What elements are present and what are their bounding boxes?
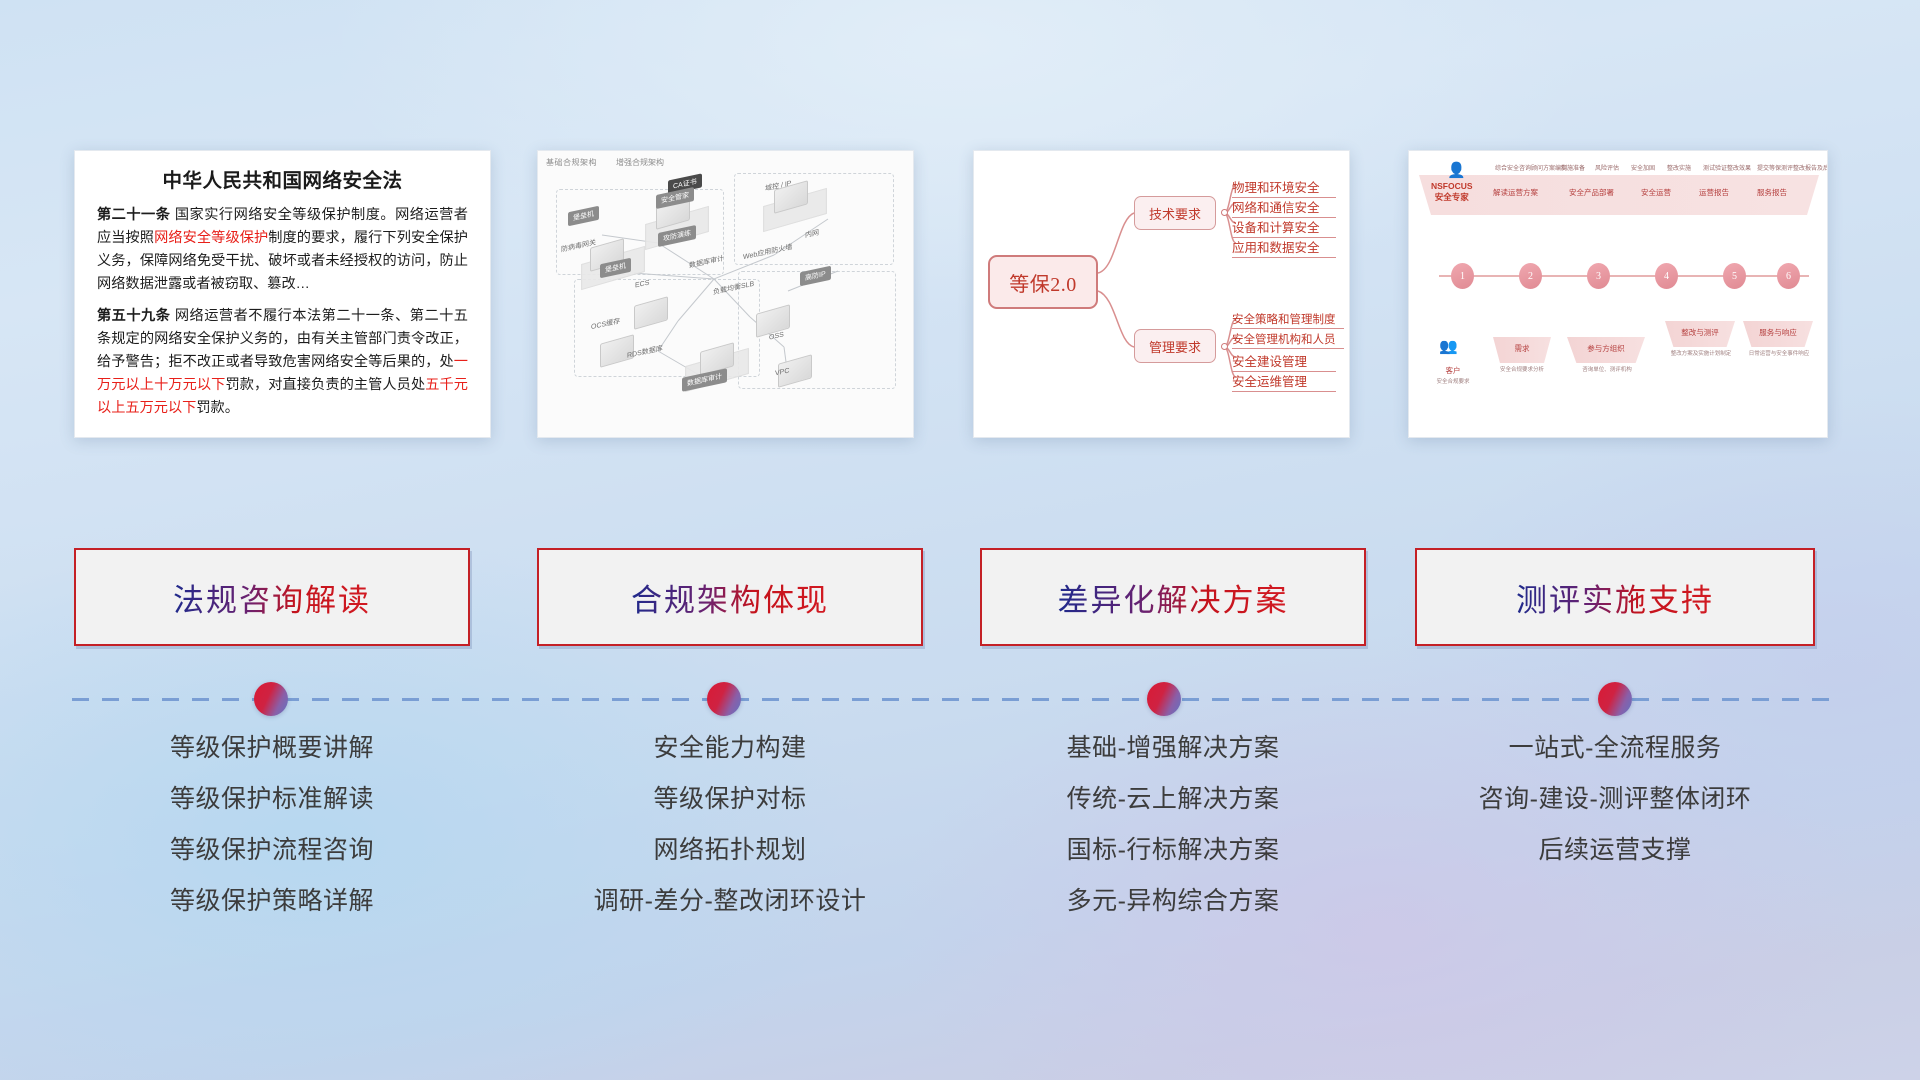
section-title-row: 法规咨询解读 合规架构体现 差异化解决方案 测评实施支持: [0, 548, 1920, 646]
roadmap-header-1: 综合安全咨询顾问方案编制: [1495, 163, 1567, 172]
section-title-label-3: 差异化解决方案: [1058, 575, 1289, 620]
nsfocus-brand: NSFOCUS: [1431, 181, 1473, 191]
mindmap-leaf-mgmt-3: 安全建设管理: [1232, 351, 1336, 372]
roadmap-chip-2: 安全产品部署: [1569, 187, 1614, 198]
law-article-59: 第五十九条 网络运营者不履行本法第二十一条、第二十五条规定的网络安全保护义务的，…: [97, 305, 468, 420]
law-text-block: 中华人民共和国网络安全法 第二十一条 国家实行网络安全等级保护制度。网络运营者应…: [75, 151, 490, 438]
roadmap-actor-1: 客户: [1429, 365, 1477, 376]
roadmap-step-2[interactable]: 2: [1519, 263, 1542, 289]
roadmap-diagram: 👤 NSFOCUS 安全专家 综合安全咨询顾问方案编制 实施准备 风险评估 安全…: [1409, 151, 1827, 437]
roadmap-actor-4-sub: 整改方案及实施计划制定: [1661, 349, 1741, 357]
article-21-label: 第二十一条: [97, 207, 170, 223]
roadmap-chip-3: 安全运营: [1641, 187, 1671, 198]
section-items-col-3: 基础-增强解决方案 传统-云上解决方案 国标-行标解决方案 多元-异构综合方案: [980, 736, 1366, 940]
list-item: 基础-增强解决方案: [980, 736, 1366, 761]
card-dengbao-mindmap: 等保2.0 技术要求 物理和环境安全 网络和通信安全 设备和计算安全 应用和数据…: [973, 150, 1350, 438]
roadmap-actor-3: 参与方组织: [1575, 343, 1637, 354]
list-item: 等级保护概要讲解: [74, 736, 470, 761]
timeline-dot-3[interactable]: [1147, 682, 1181, 716]
section-title-box-3[interactable]: 差异化解决方案: [980, 548, 1366, 646]
list-item: 网络拓扑规划: [537, 838, 923, 863]
mindmap-leaf-mgmt-1: 安全策略和管理制度: [1232, 311, 1344, 329]
list-item: 一站式-全流程服务: [1415, 736, 1815, 761]
mindmap-collapse-dot-1[interactable]: [1221, 209, 1228, 216]
card-compliance-architecture: 基础合规架构 增强合规架构: [537, 150, 914, 438]
list-item: 后续运营支撑: [1415, 838, 1815, 863]
section-title-label-1: 法规咨询解读: [173, 575, 371, 620]
article-59-label: 第五十九条: [97, 308, 170, 324]
roadmap-step-3[interactable]: 3: [1587, 263, 1610, 289]
mindmap-leaf-tech-4: 应用和数据安全: [1232, 237, 1336, 258]
roadmap-step-6[interactable]: 6: [1777, 263, 1800, 289]
list-item: 调研-差分-整改闭环设计: [537, 889, 923, 914]
card-cybersecurity-law: 中华人民共和国网络安全法 第二十一条 国家实行网络安全等级保护制度。网络运营者应…: [74, 150, 491, 438]
image-card-row: 中华人民共和国网络安全法 第二十一条 国家实行网络安全等级保护制度。网络运营者应…: [0, 150, 1920, 438]
list-item: 多元-异构综合方案: [980, 889, 1366, 914]
article-21-highlight: 网络安全等级保护: [154, 230, 268, 246]
roadmap-header-4: 安全加固: [1631, 163, 1655, 172]
timeline-dot-2[interactable]: [707, 682, 741, 716]
law-title: 中华人民共和国网络安全法: [97, 164, 468, 193]
person-icon: 👤: [1447, 161, 1466, 179]
mindmap-leaf-mgmt-4: 安全运维管理: [1232, 371, 1336, 392]
roadmap-actor-5: 服务与响应: [1749, 327, 1807, 338]
list-item: 等级保护标准解读: [74, 787, 470, 812]
section-title-label-2: 合规架构体现: [631, 575, 829, 620]
list-item: 安全能力构建: [537, 736, 923, 761]
roadmap-header-7: 提交等保测评整改报告及后续支撑服务: [1757, 163, 1828, 172]
roadmap-header-5: 整改实施: [1667, 163, 1691, 172]
law-article-21: 第二十一条 国家实行网络安全等级保护制度。网络运营者应当按照网络安全等级保护制度…: [97, 204, 468, 296]
customer-icon: 👥: [1439, 337, 1458, 355]
section-items-col-2: 安全能力构建 等级保护对标 网络拓扑规划 调研-差分-整改闭环设计: [537, 736, 923, 940]
nsfocus-logo: NSFOCUS 安全专家: [1431, 181, 1473, 202]
nsfocus-brand-sub: 安全专家: [1435, 192, 1469, 202]
timeline-dashed-line: [72, 698, 1832, 701]
mindmap-collapse-dot-2[interactable]: [1221, 343, 1228, 350]
section-title-box-4[interactable]: 测评实施支持: [1415, 548, 1815, 646]
mindmap-branch-technical: 技术要求: [1134, 196, 1216, 230]
roadmap-chip-5: 服务报告: [1757, 187, 1787, 198]
card-nsfocus-roadmap: 👤 NSFOCUS 安全专家 综合安全咨询顾问方案编制 实施准备 风险评估 安全…: [1408, 150, 1828, 438]
section-title-label-4: 测评实施支持: [1516, 575, 1714, 620]
mindmap: 等保2.0 技术要求 物理和环境安全 网络和通信安全 设备和计算安全 应用和数据…: [974, 151, 1349, 437]
mindmap-root-node: 等保2.0: [988, 255, 1098, 309]
list-item: 等级保护对标: [537, 787, 923, 812]
list-item: 传统-云上解决方案: [980, 787, 1366, 812]
roadmap-header-6: 测试验证整改效果: [1703, 163, 1751, 172]
roadmap-chip-4: 运营报告: [1699, 187, 1729, 198]
list-item: 等级保护策略详解: [74, 889, 470, 914]
timeline-dot-4[interactable]: [1598, 682, 1632, 716]
list-item: 等级保护流程咨询: [74, 838, 470, 863]
slide-canvas: 中华人民共和国网络安全法 第二十一条 国家实行网络安全等级保护制度。网络运营者应…: [0, 0, 1920, 1080]
roadmap-actor-2-sub: 安全合规要求分析: [1489, 365, 1555, 373]
roadmap-actor-3-sub: 咨询单位、测评机构: [1565, 365, 1649, 373]
mindmap-leaf-mgmt-2: 安全管理机构和人员: [1232, 331, 1344, 349]
roadmap-actor-1-sub: 安全合规要求: [1425, 377, 1481, 385]
timeline-dot-1[interactable]: [254, 682, 288, 716]
section-items-col-4: 一站式-全流程服务 咨询-建设-测评整体闭环 后续运营支撑: [1415, 736, 1815, 889]
roadmap-header-3: 风险评估: [1595, 163, 1619, 172]
roadmap-actor-2: 需求: [1499, 343, 1545, 354]
section-title-box-1[interactable]: 法规咨询解读: [74, 548, 470, 646]
article-59-text-2: 罚款，对直接负责的主管人员处: [225, 377, 425, 393]
roadmap-step-4[interactable]: 4: [1655, 263, 1678, 289]
section-title-box-2[interactable]: 合规架构体现: [537, 548, 923, 646]
mindmap-leaf-tech-2: 网络和通信安全: [1232, 197, 1336, 218]
roadmap-actor-5-sub: 日常运营与安全事件响应: [1739, 349, 1819, 357]
mindmap-leaf-tech-3: 设备和计算安全: [1232, 217, 1336, 238]
roadmap-chip-1: 解读运营方案: [1493, 187, 1538, 198]
article-59-text-3: 罚款。: [196, 400, 239, 416]
mindmap-branch-management: 管理要求: [1134, 329, 1216, 363]
roadmap-step-5[interactable]: 5: [1723, 263, 1746, 289]
section-items-col-1: 等级保护概要讲解 等级保护标准解读 等级保护流程咨询 等级保护策略详解: [74, 736, 470, 940]
list-item: 咨询-建设-测评整体闭环: [1415, 787, 1815, 812]
roadmap-step-1[interactable]: 1: [1451, 263, 1474, 289]
timeline: [0, 670, 1920, 730]
roadmap-rail: [1439, 275, 1809, 277]
architecture-diagram: 基础合规架构 增强合规架构: [538, 151, 913, 437]
roadmap-header-2: 实施准备: [1561, 163, 1585, 172]
mindmap-leaf-tech-1: 物理和环境安全: [1232, 177, 1336, 198]
list-item: 国标-行标解决方案: [980, 838, 1366, 863]
roadmap-actor-4: 整改与测评: [1671, 327, 1729, 338]
